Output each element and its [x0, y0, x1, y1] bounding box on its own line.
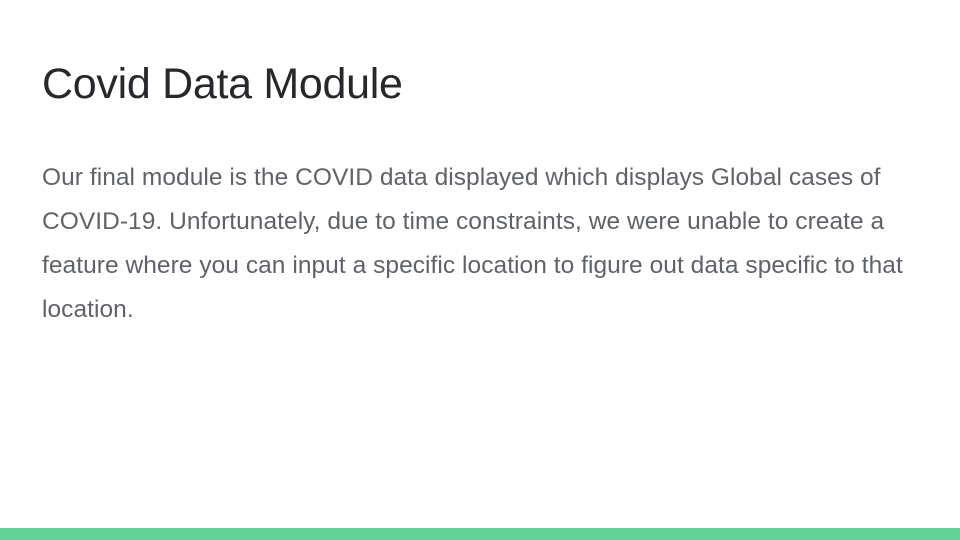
bottom-accent-bar — [0, 528, 960, 540]
slide-body-text: Our final module is the COVID data displ… — [42, 156, 920, 332]
presentation-slide: Covid Data Module Our final module is th… — [0, 0, 960, 540]
page-title: Covid Data Module — [42, 56, 922, 112]
